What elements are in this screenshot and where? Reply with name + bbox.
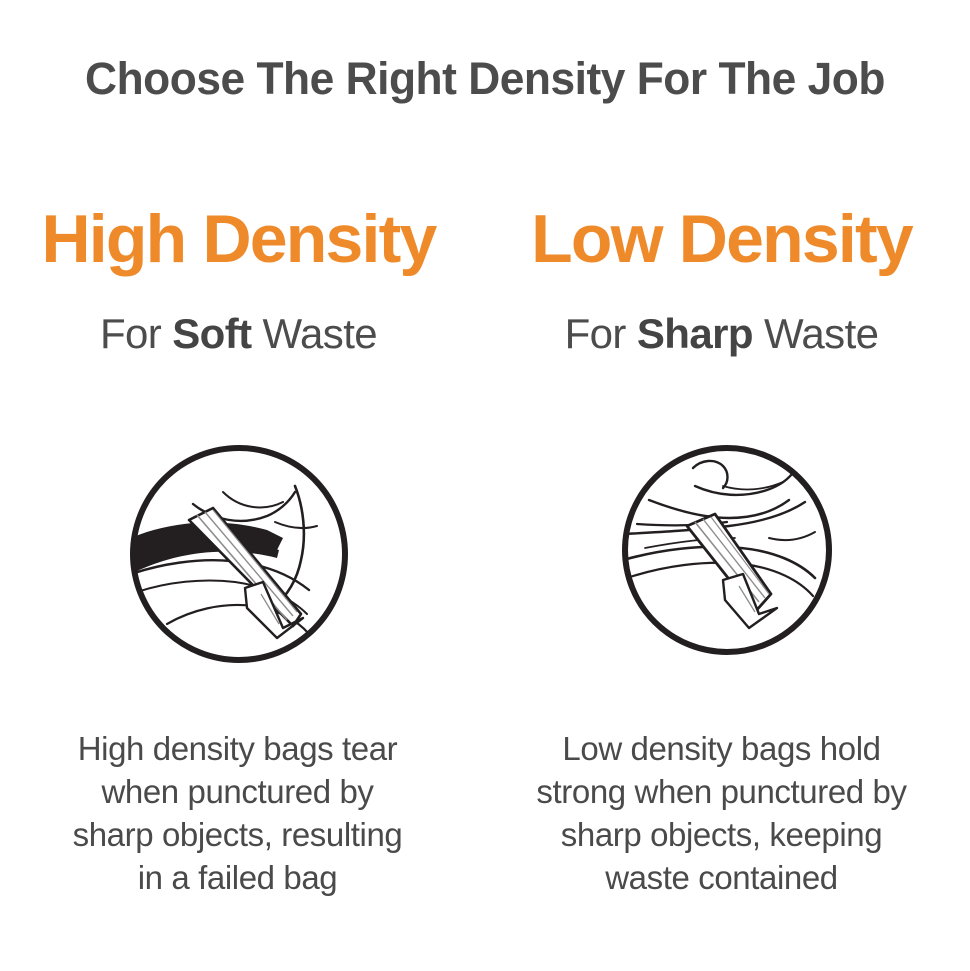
caption-line: Low density bags hold (479, 727, 964, 770)
waste-subtitle-suffix: Waste (753, 310, 879, 357)
density-heading-high: High Density (0, 198, 481, 280)
density-comparison-infographic: Choose The Right Density For The Job Hig… (0, 0, 970, 971)
caption-line: sharp objects, keeping (479, 813, 964, 856)
column-high-density: High Density For Soft Waste (0, 0, 485, 971)
caption-line: in a failed bag (0, 856, 480, 899)
waste-subtitle-low: For Sharp Waste (479, 308, 964, 360)
column-low-density: Low Density For Sharp Waste (485, 0, 970, 971)
bag-torn-by-sharp-object-icon (127, 442, 351, 666)
caption-high-density: High density bags tear when punctured by… (0, 727, 480, 899)
density-heading-low: Low Density (479, 198, 964, 280)
caption-low-density: Low density bags hold strong when punctu… (479, 727, 964, 899)
illustration-high-density (0, 442, 481, 672)
caption-line: High density bags tear (0, 727, 480, 770)
caption-line: waste contained (479, 856, 964, 899)
caption-line: sharp objects, resulting (0, 813, 480, 856)
waste-subtitle-prefix: For (100, 310, 172, 357)
bag-holding-strong-icon (619, 442, 835, 658)
caption-line: when punctured by (0, 770, 480, 813)
waste-subtitle-high: For Soft Waste (0, 308, 481, 360)
waste-subtitle-emphasis: Sharp (637, 310, 753, 357)
waste-subtitle-suffix: Waste (251, 310, 377, 357)
illustration-low-density (484, 442, 969, 672)
comparison-columns: High Density For Soft Waste (0, 0, 970, 971)
waste-subtitle-prefix: For (565, 310, 637, 357)
waste-subtitle-emphasis: Soft (172, 310, 251, 357)
caption-line: strong when punctured by (479, 770, 964, 813)
